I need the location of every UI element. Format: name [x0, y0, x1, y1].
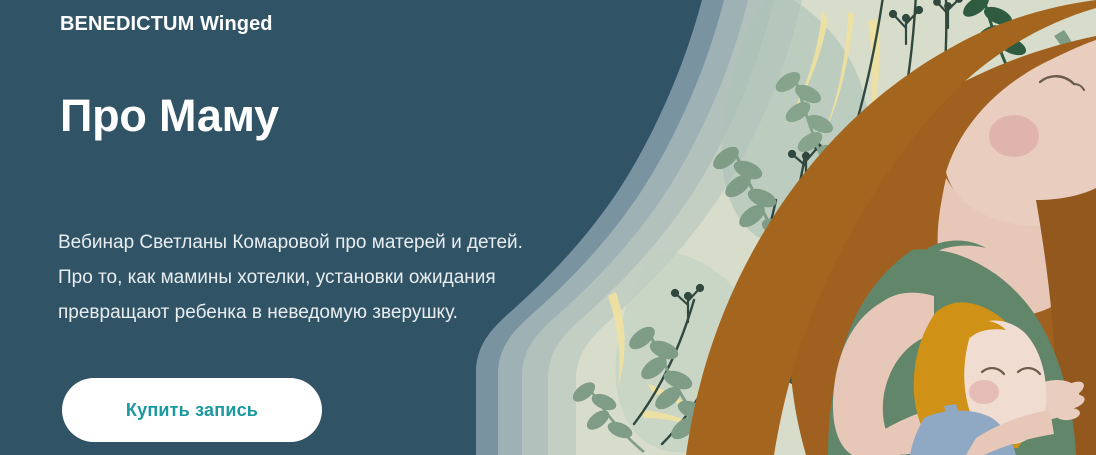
- mother-and-child-illustration: [476, 0, 1096, 455]
- page-title: Про Маму: [60, 92, 279, 139]
- hero-description: Вебинар Светланы Комаровой про матерей и…: [58, 225, 533, 330]
- mother-blush: [989, 115, 1039, 157]
- buy-recording-button[interactable]: Купить запись: [62, 378, 322, 442]
- hero-content: BENEDICTUM Winged Про Маму Вебинар Светл…: [0, 0, 560, 455]
- hero-banner: BENEDICTUM Winged Про Маму Вебинар Светл…: [0, 0, 1096, 455]
- brand-name: BENEDICTUM Winged: [60, 13, 273, 36]
- child-blush: [969, 380, 999, 404]
